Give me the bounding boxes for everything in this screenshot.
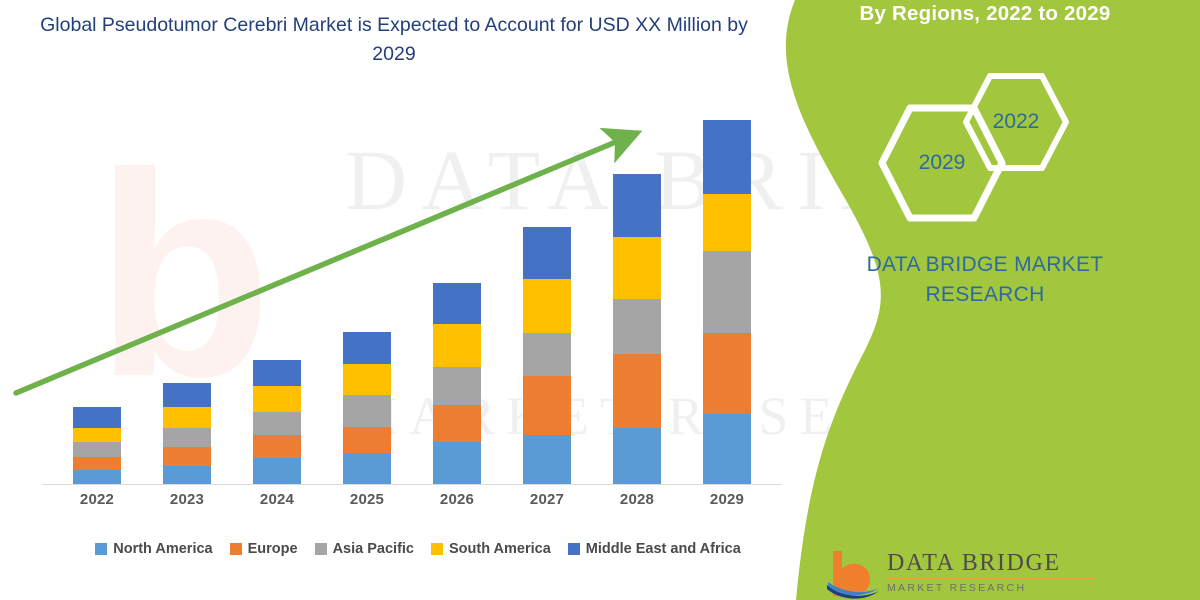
bar-segment <box>343 395 391 426</box>
bar-segment <box>613 237 661 300</box>
x-axis-label-2027: 2027 <box>502 491 592 508</box>
bar-segment <box>343 453 391 485</box>
bar-segment <box>433 442 481 485</box>
infographic-root: b DATA BRIDGE MARKET RESEARCH By Regions… <box>0 0 1200 600</box>
legend-swatch-icon <box>230 543 242 555</box>
bar-segment <box>433 324 481 367</box>
bar-segment <box>343 427 391 453</box>
legend-item[interactable]: Asia Pacific <box>315 541 414 557</box>
bar-segment <box>703 194 751 251</box>
legend-item[interactable]: Middle East and Africa <box>568 541 741 557</box>
bar-segment <box>73 442 121 457</box>
plot-area <box>0 120 800 485</box>
bar-slot <box>322 120 412 485</box>
bar-segment <box>613 354 661 428</box>
bar-segment <box>523 227 571 278</box>
legend-swatch-icon <box>315 543 327 555</box>
panel-header: By Regions, 2022 to 2029 <box>770 2 1200 26</box>
logo-text: DATA BRIDGE MARKET RESEARCH <box>887 551 1095 594</box>
bar-segment <box>433 405 481 443</box>
logo-name: DATA BRIDGE <box>887 551 1095 576</box>
bar-segment <box>703 251 751 332</box>
bar-segment <box>613 299 661 353</box>
bar-segment <box>253 412 301 435</box>
brand-text: DATA BRIDGE MARKET RESEARCH <box>770 250 1200 311</box>
chart-legend: North AmericaEuropeAsia PacificSouth Ame… <box>38 541 798 557</box>
bar-segment <box>613 174 661 237</box>
stacked-bar-2024[interactable] <box>253 360 301 485</box>
bar-segment <box>163 466 211 485</box>
right-green-panel: By Regions, 2022 to 2029 2029 2022 DATA … <box>770 0 1200 600</box>
stacked-bar-2025[interactable] <box>343 332 391 485</box>
hexagon-group: 2029 2022 <box>770 78 1200 238</box>
stacked-bar-2028[interactable] <box>613 174 661 485</box>
bar-segment <box>253 360 301 386</box>
bar-segment <box>73 457 121 471</box>
x-axis-line <box>42 484 782 485</box>
brand-line-1: DATA BRIDGE MARKET <box>770 250 1200 280</box>
stacked-bar-2023[interactable] <box>163 383 211 485</box>
x-axis-label-2029: 2029 <box>682 491 772 508</box>
legend-swatch-icon <box>431 543 443 555</box>
bar-segment <box>523 376 571 435</box>
bar-segment <box>253 435 301 458</box>
bar-segment <box>703 414 751 485</box>
x-axis-label-2024: 2024 <box>232 491 322 508</box>
x-axis-labels: 20222023202420252026202720282029 <box>52 491 772 508</box>
legend-swatch-icon <box>95 543 107 555</box>
hexagon-2022: 2022 <box>962 72 1070 172</box>
logo-divider <box>887 577 1095 579</box>
bar-segment <box>433 367 481 405</box>
x-axis-label-2022: 2022 <box>52 491 142 508</box>
hexagon-2022-label: 2022 <box>962 110 1070 134</box>
legend-item[interactable]: Europe <box>230 541 298 557</box>
bar-segment <box>523 279 571 333</box>
bar-segment <box>523 435 571 485</box>
bar-segment <box>343 364 391 395</box>
x-axis-label-2028: 2028 <box>592 491 682 508</box>
bar-segment <box>433 283 481 325</box>
bar-segment <box>703 120 751 194</box>
bar-slot <box>142 120 232 485</box>
bar-slot <box>682 120 772 485</box>
bar-slot <box>52 120 142 485</box>
legend-label: Middle East and Africa <box>586 541 741 557</box>
legend-label: Europe <box>248 541 298 557</box>
bar-segment <box>703 333 751 414</box>
legend-item[interactable]: South America <box>431 541 551 557</box>
stacked-bar-2026[interactable] <box>433 283 481 485</box>
bar-slot <box>232 120 322 485</box>
bar-segment <box>343 332 391 364</box>
stacked-bar-2029[interactable] <box>703 120 751 485</box>
x-axis-label-2025: 2025 <box>322 491 412 508</box>
bar-segment <box>163 383 211 407</box>
bar-segment <box>253 386 301 412</box>
bar-slot <box>412 120 502 485</box>
legend-label: North America <box>113 541 212 557</box>
brand-line-2: RESEARCH <box>770 280 1200 310</box>
logo-mark-icon <box>825 549 881 600</box>
bar-segment <box>163 407 211 428</box>
bar-slot <box>502 120 592 485</box>
logo-subtitle: MARKET RESEARCH <box>887 582 1095 594</box>
legend-item[interactable]: North America <box>95 541 212 557</box>
data-bridge-logo: DATA BRIDGE MARKET RESEARCH <box>825 549 1165 600</box>
legend-label: South America <box>449 541 551 557</box>
stacked-bar-2022[interactable] <box>73 407 121 485</box>
bar-segment <box>163 447 211 466</box>
chart-area: Global Pseudotumor Cerebri Market is Exp… <box>0 0 830 600</box>
bar-segment <box>73 407 121 428</box>
bar-segment <box>73 470 121 485</box>
stacked-bar-2027[interactable] <box>523 227 571 485</box>
bar-segment <box>253 458 301 485</box>
bar-segment <box>73 428 121 443</box>
bar-segment <box>613 428 661 485</box>
x-axis-label-2026: 2026 <box>412 491 502 508</box>
bar-slot <box>592 120 682 485</box>
chart-title: Global Pseudotumor Cerebri Market is Exp… <box>24 11 764 70</box>
x-axis-label-2023: 2023 <box>142 491 232 508</box>
bar-segment <box>523 333 571 376</box>
legend-label: Asia Pacific <box>333 541 414 557</box>
bar-group <box>52 120 772 485</box>
legend-swatch-icon <box>568 543 580 555</box>
bar-segment <box>163 428 211 448</box>
